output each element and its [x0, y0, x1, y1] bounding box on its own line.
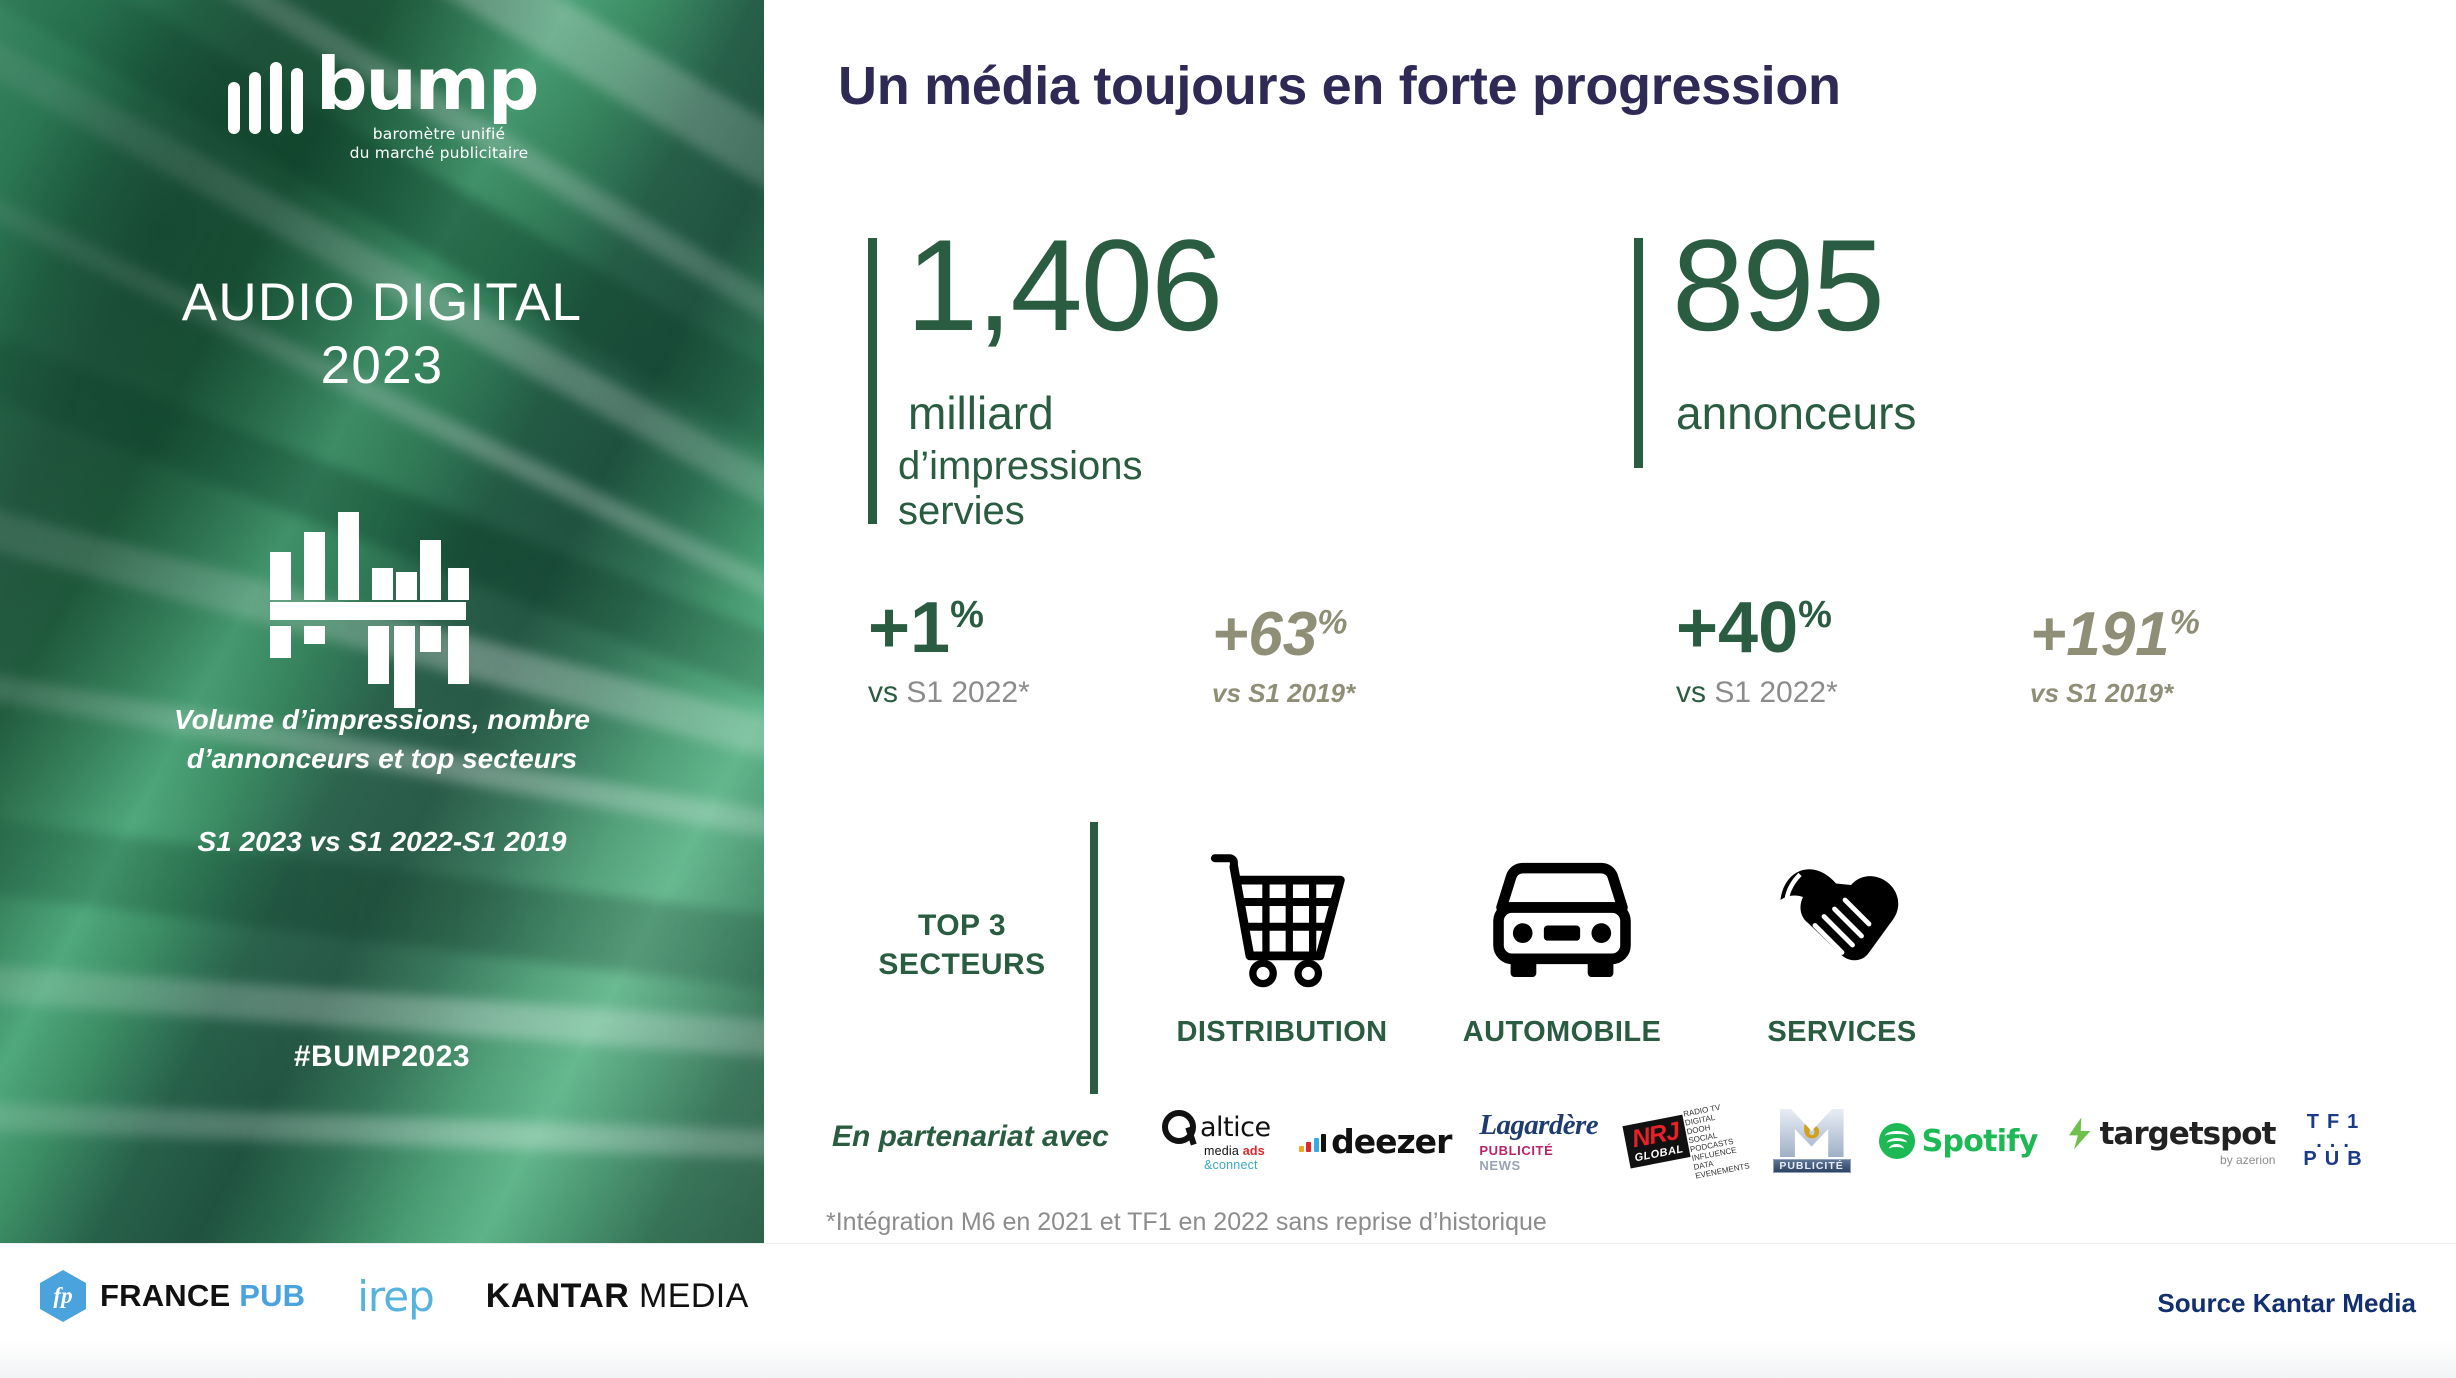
shopping-cart-icon — [1207, 820, 1357, 1016]
partners-lead: En partenariat avec — [832, 1120, 1109, 1154]
partner-logo-targetspot: targetspot by azerion — [2066, 1103, 2276, 1179]
equalizer-icon — [268, 512, 492, 710]
bump-wordmark: bump — [316, 48, 537, 120]
kpi-value: 895 — [1672, 226, 1883, 346]
footer-logo-kantar-media: KANTAR MEDIA — [486, 1277, 749, 1316]
altice-wordmark: altice — [1200, 1112, 1271, 1143]
targetspot-wordmark: targetspot — [2100, 1116, 2276, 1152]
top-sectors-section: TOP 3 SECTEURS — [842, 820, 2002, 1100]
m6-wordmark: 6 — [1780, 1115, 1844, 1145]
lagardere-wordmark: Lagardère — [1479, 1109, 1598, 1142]
equalizer-baseline — [270, 602, 466, 620]
cover-period: S1 2023 vs S1 2022-S1 2019 — [28, 822, 736, 861]
delta-value: +191% — [2030, 604, 2200, 666]
cover-subtitle-line1: Volume d’impressions, nombre — [28, 700, 736, 739]
delta-caption: vs S1 2022* — [868, 676, 1030, 710]
tf1-line2: PUB — [2303, 1148, 2369, 1171]
sector-automobile: AUTOMOBILE — [1422, 820, 1702, 1100]
delta-caption: vs S1 2022* — [1676, 676, 1838, 710]
kpi-accent-bar — [868, 238, 877, 524]
delta-caption: vs S1 2019* — [1212, 678, 1355, 709]
kpi-unit-line1: annonceurs — [1676, 386, 1916, 440]
top-sectors-label-line1: TOP 3 — [842, 906, 1082, 945]
partner-logo-spotify: Spotify — [1879, 1103, 2038, 1179]
car-icon — [1483, 820, 1641, 1016]
delta-advertisers-vs-2019: +191% vs S1 2019* — [2030, 604, 2200, 709]
partner-logo-deezer: deezer — [1299, 1103, 1452, 1179]
delta-value: +63% — [1212, 604, 1355, 666]
sector-distribution: DISTRIBUTION — [1142, 820, 1422, 1100]
targetspot-sub: by azerion — [2220, 1153, 2275, 1167]
altice-line2: media ads — [1204, 1144, 1265, 1158]
sector-name: DISTRIBUTION — [1176, 1016, 1387, 1049]
delta-impressions-vs-2019: +63% vs S1 2019* — [1212, 604, 1355, 709]
cover-subtitle-line2: d’annonceurs et top secteurs — [28, 739, 736, 778]
handshake-icon — [1767, 820, 1917, 1016]
footnote: *Intégration M6 en 2021 et TF1 en 2022 s… — [826, 1208, 1547, 1237]
kpi-unit-line2: d’impressions servies — [898, 444, 1143, 534]
m6-mark-icon: 6 — [1780, 1109, 1844, 1157]
bump-bars-icon — [228, 60, 303, 134]
sector-services: SERVICES — [1702, 820, 1982, 1100]
kpi-accent-bar — [1634, 238, 1643, 468]
m6-sub: PUBLICITÉ — [1773, 1159, 1851, 1173]
nrj-badge-icon: NRJ GLOBAL — [1622, 1114, 1691, 1168]
delta-impressions-vs-2022: +1% vs S1 2022* — [868, 592, 1030, 710]
altice-mark-icon — [1162, 1110, 1196, 1144]
footer-logo-france-pub: fp FRANCE PUB — [40, 1270, 305, 1322]
delta-caption: vs S1 2019* — [2030, 678, 2200, 709]
left-cover-panel: bump baromètre unifié du marché publicit… — [0, 0, 764, 1243]
partner-logo-m6-publicite: 6 PUBLICITÉ — [1773, 1103, 1851, 1179]
france-pub-wordmark: FRANCE PUB — [100, 1278, 305, 1314]
bump-tagline: baromètre unifié du marché publicitaire — [324, 125, 554, 164]
sector-name: AUTOMOBILE — [1463, 1016, 1661, 1049]
partner-logo-altice: altice media ads &connect — [1162, 1103, 1271, 1179]
spotify-wordmark: Spotify — [1922, 1124, 2038, 1159]
footer-bar: fp FRANCE PUB irep KANTAR MEDIA Source K… — [0, 1243, 2456, 1378]
page-title: Un média toujours en forte progression — [838, 55, 1841, 117]
partner-logo-tf1-pub: TF1 ... PUB — [2303, 1103, 2369, 1179]
partners-section: En partenariat avec altice media ads &co… — [832, 1098, 2262, 1184]
slide: bump baromètre unifié du marché publicit… — [0, 0, 2456, 1378]
cover-hashtag: #BUMP2023 — [0, 1040, 764, 1074]
france-pub-hex-icon: fp — [40, 1270, 86, 1322]
top-sectors-label: TOP 3 SECTEURS — [842, 906, 1082, 984]
kpi-unit-line1: milliard — [908, 386, 1054, 440]
top-sectors-label-line2: SECTEURS — [842, 945, 1082, 984]
nrj-descriptor: RADIO TV DIGITAL DOOH SOCIAL PODCASTS IN… — [1683, 1101, 1751, 1182]
cover-title-line2: 2023 — [0, 335, 764, 398]
deezer-wordmark: deezer — [1331, 1122, 1451, 1161]
deezer-equalizer-icon — [1299, 1130, 1327, 1152]
cover-subtitle: Volume d’impressions, nombre d’annonceur… — [28, 700, 736, 778]
partner-logo-nrj-global: NRJ GLOBAL RADIO TV DIGITAL DOOH SOCIAL … — [1626, 1103, 1745, 1179]
bump-tagline-line1: baromètre unifié — [324, 125, 554, 144]
altice-line3: &connect — [1204, 1158, 1258, 1172]
partner-logo-lagardere: Lagardère PUBLICITÉ NEWS — [1479, 1103, 1598, 1179]
sector-name: SERVICES — [1767, 1016, 1916, 1049]
source-label: Source Kantar Media — [2157, 1288, 2416, 1319]
bump-tagline-line2: du marché publicitaire — [324, 144, 554, 163]
lagardere-sub: PUBLICITÉ NEWS — [1479, 1143, 1598, 1173]
targetspot-bolt-icon — [2066, 1118, 2094, 1150]
tf1-dots: ... — [2316, 1134, 2357, 1148]
cover-title: AUDIO DIGITAL 2023 — [0, 272, 764, 397]
footer-logo-irep: irep — [357, 1272, 434, 1321]
bump-logo: bump baromètre unifié du marché publicit… — [228, 52, 548, 160]
delta-value: +1% — [868, 592, 1030, 664]
kpi-value: 1,406 — [906, 226, 1221, 346]
delta-advertisers-vs-2022: +40% vs S1 2022* — [1676, 592, 1838, 710]
top-sectors-divider — [1090, 822, 1098, 1094]
spotify-icon — [1879, 1123, 1915, 1159]
delta-value: +40% — [1676, 592, 1838, 664]
cover-title-line1: AUDIO DIGITAL — [0, 272, 764, 335]
